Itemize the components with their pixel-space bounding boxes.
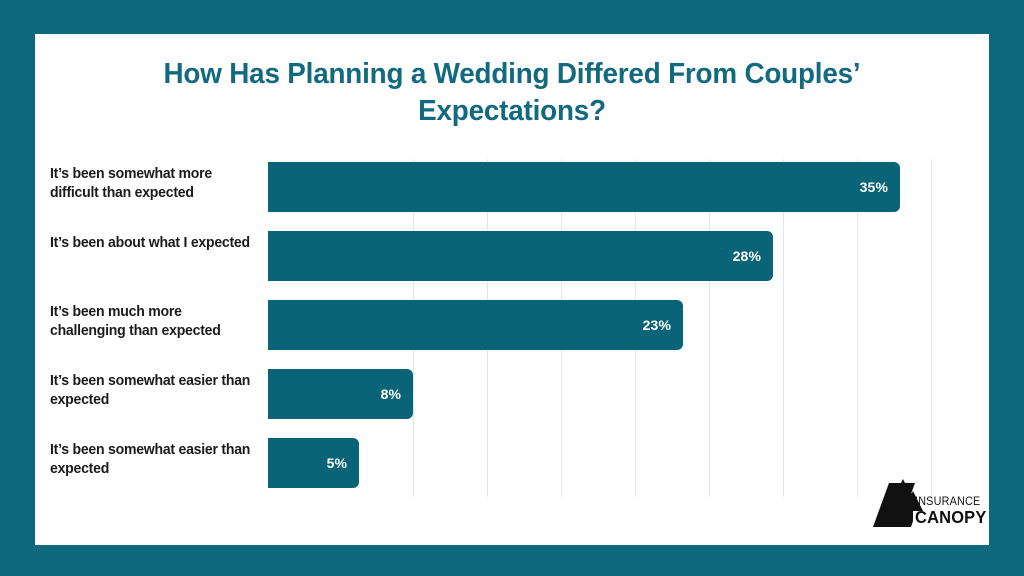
bar-row: 5% bbox=[268, 438, 951, 488]
bar-value-label: 23% bbox=[643, 317, 671, 333]
bar-value-label: 8% bbox=[381, 386, 401, 402]
insurance-canopy-logo: INSURANCE CANOPY bbox=[871, 475, 979, 531]
category-label: It’s been much more challenging than exp… bbox=[50, 303, 259, 341]
bar-series-1[interactable]: 28% bbox=[268, 231, 773, 281]
bar-row: 35% bbox=[268, 162, 951, 212]
category-label: It’s been somewhat easier than expected bbox=[50, 372, 259, 410]
chart-card: How Has Planning a Wedding Differed From… bbox=[35, 34, 989, 545]
bar-value-label: 5% bbox=[327, 455, 347, 471]
category-label: It’s been somewhat easier than expected bbox=[50, 441, 259, 479]
slide-canvas: How Has Planning a Wedding Differed From… bbox=[0, 0, 1024, 576]
logo-text-canopy: CANOPY bbox=[915, 507, 987, 528]
bar-series-4[interactable]: 5% bbox=[268, 438, 359, 488]
bar-series-2[interactable]: 23% bbox=[268, 300, 683, 350]
bar-series-3[interactable]: 8% bbox=[268, 369, 413, 419]
plot-area: 35% 28% 23% 8% 5% bbox=[268, 159, 951, 497]
category-axis-labels: It’s been somewhat more difficult than e… bbox=[50, 159, 265, 497]
bar-row: 23% bbox=[268, 300, 951, 350]
category-label: It’s been somewhat more difficult than e… bbox=[50, 165, 259, 203]
bar-value-label: 28% bbox=[733, 248, 761, 264]
bar-row: 8% bbox=[268, 369, 951, 419]
bar-row: 28% bbox=[268, 231, 951, 281]
page-title: How Has Planning a Wedding Differed From… bbox=[92, 56, 931, 130]
bar-value-label: 35% bbox=[860, 179, 888, 195]
category-label: It’s been about what I expected bbox=[50, 234, 259, 253]
bar-series-0[interactable]: 35% bbox=[268, 162, 900, 212]
